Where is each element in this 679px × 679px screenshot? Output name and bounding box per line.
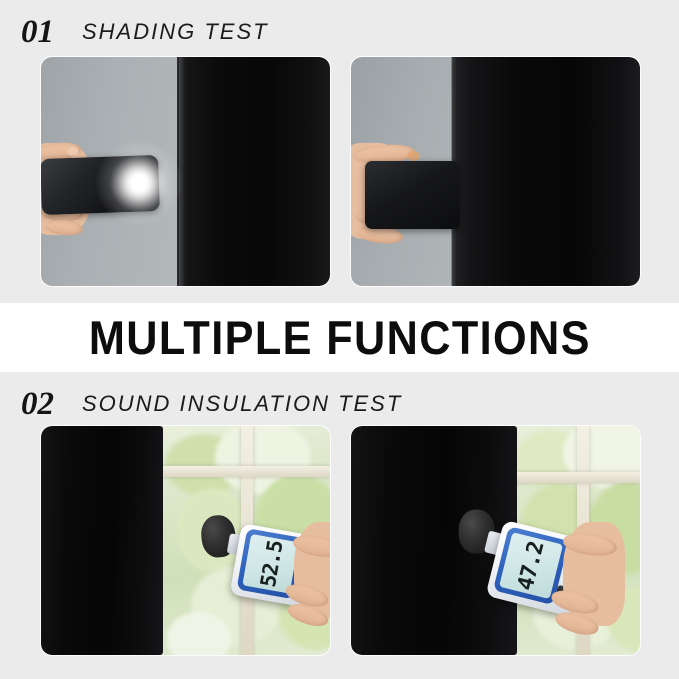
smartphone [365, 161, 460, 229]
section-number-02: 02 [21, 388, 54, 421]
flashlight-beam-icon [131, 175, 147, 191]
section-header-02: 02 SOUND INSULATION TEST [0, 376, 679, 432]
fingernail [407, 151, 420, 161]
headline-banner: MULTIPLE FUNCTIONS [0, 303, 679, 372]
photo-sound-open-window: 52.5 [41, 426, 330, 655]
section-number-01: 01 [21, 16, 54, 49]
photo-sound-behind-curtain: 47.2 BENETECH [351, 426, 640, 655]
blackout-curtain-panel [41, 426, 163, 655]
fingernail [67, 147, 79, 156]
photo-shading-flashlight-on [41, 57, 330, 286]
section-title-01: SHADING TEST [82, 19, 269, 45]
window-mullion [511, 472, 640, 483]
blackout-curtain-panel [177, 57, 330, 286]
meter-reading-value: 52.5 [256, 539, 288, 589]
blackout-curtain-panel [452, 57, 640, 286]
window-mullion [159, 466, 330, 477]
section-header-01: 01 SHADING TEST [0, 4, 679, 60]
meter-reading-value: 47.2 [513, 539, 549, 593]
curtain-seam [179, 57, 185, 286]
photo-shading-flashlight-blocked [351, 57, 640, 286]
headline-text: MULTIPLE FUNCTIONS [88, 310, 590, 365]
section-title-02: SOUND INSULATION TEST [82, 391, 402, 417]
product-infographic: 01 SHADING TEST [0, 0, 679, 679]
